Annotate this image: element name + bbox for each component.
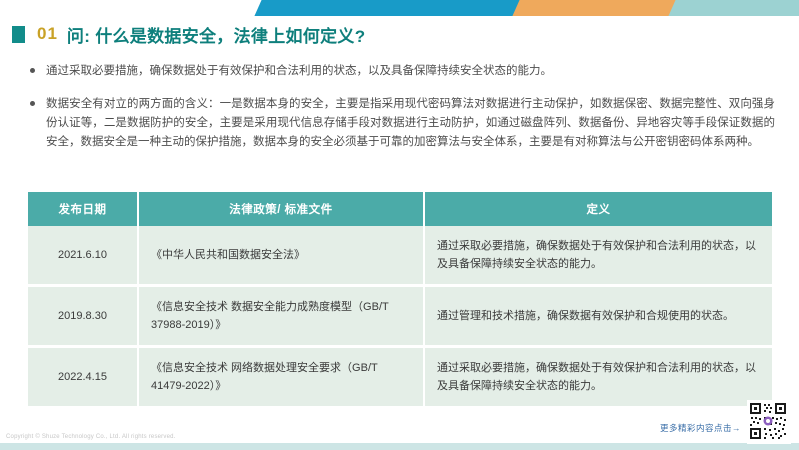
top-decoration-bar bbox=[0, 0, 799, 16]
bullet-dot-icon bbox=[30, 68, 35, 73]
bullet-list: 通过采取必要措施，确保数据处于有效保护和合法利用的状态，以及具备保障持续安全状态… bbox=[30, 62, 775, 166]
table-header-row: 发布日期 法律政策/ 标准文件 定义 bbox=[28, 192, 772, 226]
cell-definition: 通过采取必要措施，确保数据处于有效保护和合法利用的状态，以及具备保障持续安全状态… bbox=[424, 347, 772, 407]
cell-date: 2022.4.15 bbox=[28, 347, 138, 407]
table-row: 2019.8.30 《信息安全技术 数据安全能力成熟度模型（GB/T 37988… bbox=[28, 286, 772, 347]
bullet-dot-icon bbox=[30, 101, 35, 106]
policy-table: 发布日期 法律政策/ 标准文件 定义 2021.6.10 《中华人民共和国数据安… bbox=[28, 192, 772, 406]
copyright-text: Copyright © Shuze Technology Co., Ltd. A… bbox=[6, 434, 176, 440]
table-row: 2022.4.15 《信息安全技术 网络数据处理安全要求（GB/T 41479-… bbox=[28, 347, 772, 407]
cell-document: 《信息安全技术 网络数据处理安全要求（GB/T 41479-2022）》 bbox=[138, 347, 424, 407]
heading-text: 问: 什么是数据安全，法律上如何定义? bbox=[67, 22, 365, 47]
list-item: 通过采取必要措施，确保数据处于有效保护和合法利用的状态，以及具备保障持续安全状态… bbox=[30, 62, 775, 81]
page-title: 01 问: 什么是数据安全，法律上如何定义? bbox=[12, 21, 365, 47]
table-row: 2021.6.10 《中华人民共和国数据安全法》 通过采取必要措施，确保数据处于… bbox=[28, 226, 772, 286]
column-header-definition: 定义 bbox=[424, 192, 772, 226]
deco-segment-orange bbox=[512, 0, 677, 16]
qr-code-icon[interactable] bbox=[747, 400, 791, 444]
column-header-document: 法律政策/ 标准文件 bbox=[138, 192, 424, 226]
deco-segment-teal bbox=[668, 0, 799, 16]
footer-strip bbox=[0, 443, 799, 450]
deco-segment-blue bbox=[254, 0, 521, 16]
bullet-text: 数据安全有对立的两方面的含义：一是数据本身的安全，主要是指采用现代密码算法对数据… bbox=[46, 95, 775, 152]
cell-date: 2019.8.30 bbox=[28, 286, 138, 347]
cell-document: 《信息安全技术 数据安全能力成熟度模型（GB/T 37988-2019）》 bbox=[138, 286, 424, 347]
column-header-date: 发布日期 bbox=[28, 192, 138, 226]
cell-document: 《中华人民共和国数据安全法》 bbox=[138, 226, 424, 286]
heading-number: 01 bbox=[37, 24, 58, 44]
cell-date: 2021.6.10 bbox=[28, 226, 138, 286]
bullet-text: 通过采取必要措施，确保数据处于有效保护和合法利用的状态，以及具备保障持续安全状态… bbox=[46, 62, 775, 81]
footer-cta-text[interactable]: 更多精彩内容点击→ bbox=[660, 422, 741, 434]
cell-definition: 通过管理和技术措施，确保数据有效保护和合规使用的状态。 bbox=[424, 286, 772, 347]
cell-definition: 通过采取必要措施，确保数据处于有效保护和合法利用的状态，以及具备保障持续安全状态… bbox=[424, 226, 772, 286]
heading-square-marker bbox=[12, 26, 25, 43]
list-item: 数据安全有对立的两方面的含义：一是数据本身的安全，主要是指采用现代密码算法对数据… bbox=[30, 95, 775, 152]
